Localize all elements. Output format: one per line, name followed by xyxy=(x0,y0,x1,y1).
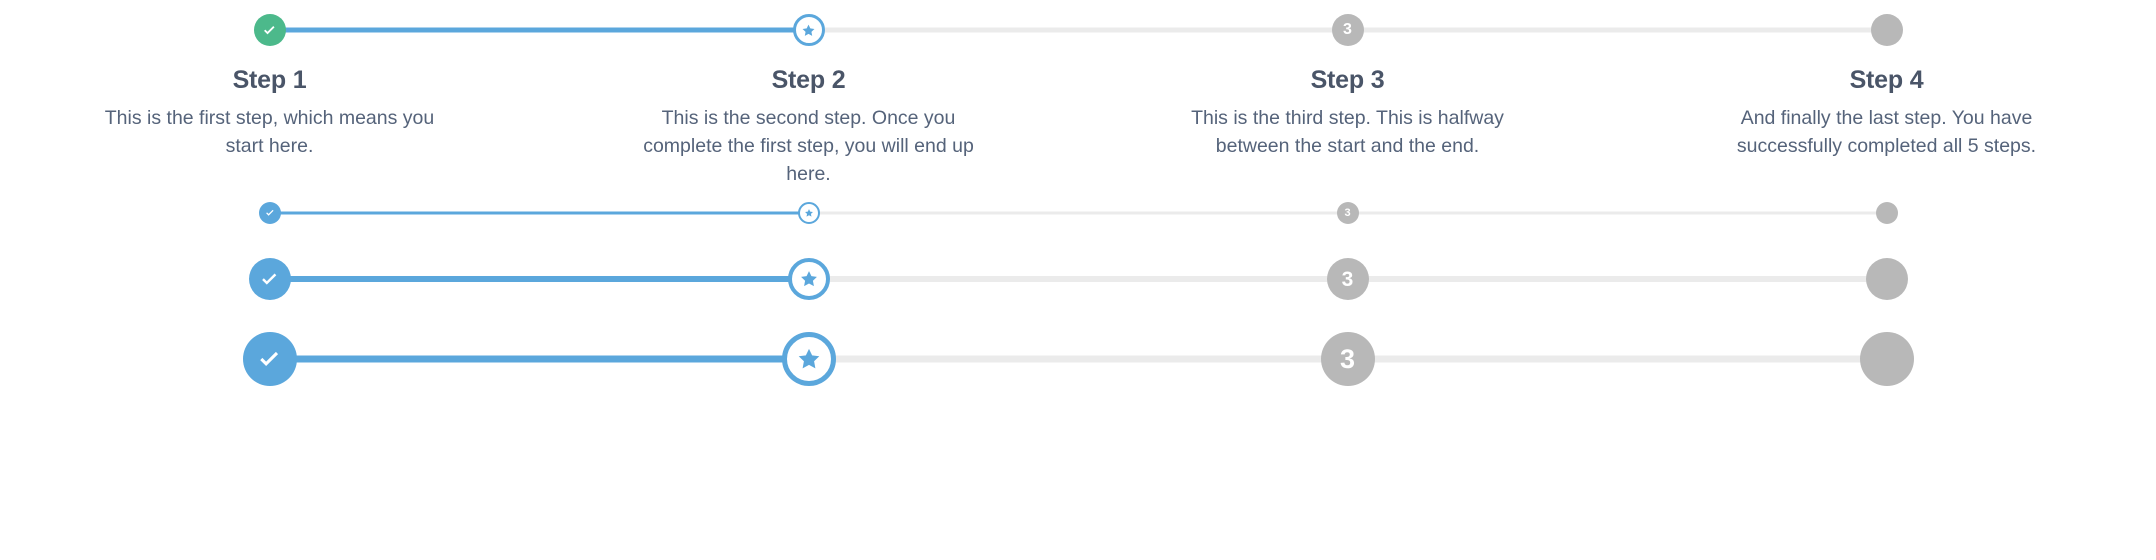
check-icon xyxy=(261,22,278,39)
step-description: This is the third step. This is halfway … xyxy=(1178,104,1518,160)
check-icon xyxy=(264,207,276,219)
step-marker-row xyxy=(1617,258,2156,300)
step-item-2[interactable]: Step 2 This is the second step. Once you… xyxy=(539,14,1078,188)
step-number-label: 3 xyxy=(1344,208,1350,219)
step-marker-completed[interactable] xyxy=(243,332,297,386)
step-marker-current[interactable] xyxy=(788,258,830,300)
step-marker-current[interactable] xyxy=(782,332,836,386)
connector-left xyxy=(1078,212,1348,215)
connector-left xyxy=(1078,28,1348,33)
step-marker-row xyxy=(539,202,1078,224)
step-marker-current[interactable] xyxy=(793,14,825,46)
step-item-1[interactable] xyxy=(0,332,539,386)
step-item-4[interactable] xyxy=(1617,258,2156,300)
connector-right xyxy=(809,276,1079,282)
step-marker-row xyxy=(0,202,539,224)
step-item-3[interactable]: 3 Step 3 This is the third step. This is… xyxy=(1078,14,1617,160)
step-progress-bar-xs: 3 xyxy=(0,202,2156,224)
check-icon xyxy=(258,268,281,291)
step-marker-row: 3 xyxy=(1078,202,1617,224)
step-title: Step 3 xyxy=(1102,66,1593,95)
star-icon xyxy=(804,208,814,218)
step-marker-row xyxy=(539,14,1078,46)
connector-left xyxy=(1617,356,1887,363)
step-item-4[interactable] xyxy=(1617,202,2156,224)
step-marker-row xyxy=(0,332,539,386)
step-progress-bar-lg: 3 xyxy=(0,332,2156,386)
step-description: This is the second step. Once you comple… xyxy=(639,104,979,188)
stepper-demo-stage: Step 1 This is the first step, which mea… xyxy=(0,0,2156,560)
step-marker-current[interactable] xyxy=(798,202,820,224)
connector-left xyxy=(1617,28,1887,33)
step-marker-row xyxy=(1617,202,2156,224)
step-item-1[interactable]: Step 1 This is the first step, which mea… xyxy=(0,14,539,160)
step-item-4[interactable]: Step 4 And finally the last step. You ha… xyxy=(1617,14,2156,160)
connector-left xyxy=(1617,276,1887,282)
step-progress-bar-labeled: Step 1 This is the first step, which mea… xyxy=(0,14,2156,188)
step-item-2[interactable] xyxy=(539,332,1078,386)
step-marker-row: 3 xyxy=(1078,332,1617,386)
connector-right xyxy=(1348,276,1618,282)
connector-right xyxy=(270,212,540,215)
step-title: Step 4 xyxy=(1641,66,2132,95)
step-marker-number[interactable]: 3 xyxy=(1321,332,1375,386)
step-marker-row xyxy=(0,258,539,300)
step-item-1[interactable] xyxy=(0,202,539,224)
step-marker-number[interactable]: 3 xyxy=(1337,202,1359,224)
step-title: Step 1 xyxy=(24,66,515,95)
step-text-block: Step 2 This is the second step. Once you… xyxy=(539,46,1078,188)
step-item-3[interactable]: 3 xyxy=(1078,202,1617,224)
step-marker-completed[interactable] xyxy=(249,258,291,300)
connector-left xyxy=(1617,212,1887,215)
step-marker-empty[interactable] xyxy=(1871,14,1903,46)
step-description: And finally the last step. You have succ… xyxy=(1717,104,2057,160)
step-marker-empty[interactable] xyxy=(1866,258,1908,300)
step-marker-row: 3 xyxy=(1078,14,1617,46)
step-marker-row xyxy=(1617,14,2156,46)
step-item-2[interactable] xyxy=(539,202,1078,224)
step-marker-row xyxy=(539,258,1078,300)
step-number-label: 3 xyxy=(1343,22,1352,38)
connector-right xyxy=(809,356,1079,363)
star-icon xyxy=(801,23,816,38)
step-item-3[interactable]: 3 xyxy=(1078,332,1617,386)
connector-right xyxy=(1348,28,1618,33)
step-description: This is the first step, which means you … xyxy=(100,104,440,160)
step-item-2[interactable] xyxy=(539,258,1078,300)
step-marker-row xyxy=(539,332,1078,386)
step-marker-row xyxy=(0,14,539,46)
step-text-block: Step 3 This is the third step. This is h… xyxy=(1078,46,1617,160)
connector-left xyxy=(539,356,809,363)
step-text-block: Step 4 And finally the last step. You ha… xyxy=(1617,46,2156,160)
step-marker-number[interactable]: 3 xyxy=(1327,258,1369,300)
step-number-label: 3 xyxy=(1342,269,1354,290)
step-number-label: 3 xyxy=(1340,346,1355,373)
connector-left xyxy=(539,28,809,33)
connector-right xyxy=(809,28,1079,33)
connector-right xyxy=(270,276,540,282)
connector-right xyxy=(270,28,540,33)
step-progress-bar-md: 3 xyxy=(0,258,2156,300)
step-item-3[interactable]: 3 xyxy=(1078,258,1617,300)
step-marker-empty[interactable] xyxy=(1876,202,1898,224)
step-marker-row xyxy=(1617,332,2156,386)
step-marker-completed[interactable] xyxy=(259,202,281,224)
connector-left xyxy=(1078,276,1348,282)
connector-left xyxy=(539,212,809,215)
check-icon xyxy=(255,345,284,374)
step-text-block: Step 1 This is the first step, which mea… xyxy=(0,46,539,160)
step-item-4[interactable] xyxy=(1617,332,2156,386)
step-marker-number[interactable]: 3 xyxy=(1332,14,1364,46)
step-item-1[interactable] xyxy=(0,258,539,300)
connector-right xyxy=(809,212,1079,215)
star-icon xyxy=(796,346,822,372)
step-marker-completed[interactable] xyxy=(254,14,286,46)
connector-left xyxy=(1078,356,1348,363)
connector-right xyxy=(270,356,540,363)
step-marker-row: 3 xyxy=(1078,258,1617,300)
step-title: Step 2 xyxy=(563,66,1054,95)
star-icon xyxy=(799,269,819,289)
connector-right xyxy=(1348,356,1618,363)
connector-right xyxy=(1348,212,1618,215)
step-marker-empty[interactable] xyxy=(1860,332,1914,386)
connector-left xyxy=(539,276,809,282)
